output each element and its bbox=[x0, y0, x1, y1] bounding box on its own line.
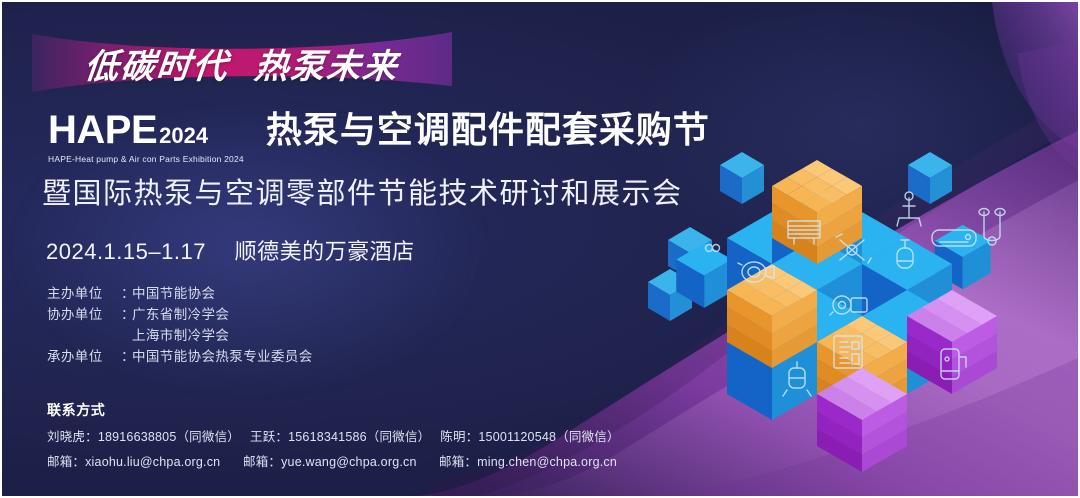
contact-email-row: 邮箱：xiaohu.liu@chpa.org.cn 邮箱：yue.wang@ch… bbox=[47, 451, 635, 470]
email-label: 邮箱： bbox=[243, 455, 281, 469]
contact-phone-row: 刘晓虎：18916638805（同微信） 王跃：15618341586（同微信）… bbox=[47, 426, 630, 445]
title-row: HAPE 2024 HAPE-Heat pump & Air con Parts… bbox=[48, 110, 710, 164]
email-address: xiaohu.liu@chpa.org.cn bbox=[85, 455, 220, 469]
hape-logo: HAPE 2024 HAPE-Heat pump & Air con Parts… bbox=[48, 110, 256, 164]
organizer-list: 主办单位 ： 中国节能协会 协办单位 ： 广东省制冷学会 上海市制冷学会 承办单… bbox=[47, 283, 313, 367]
slogan-text: 低碳时代 热泵未来 bbox=[29, 34, 455, 92]
contact-person-phone: 刘晓虎：18916638805（同微信） bbox=[47, 426, 240, 445]
email-address: ming.chen@chpa.org.cn bbox=[477, 455, 617, 469]
contact-heading: 联系方式 bbox=[47, 400, 105, 420]
email-label: 邮箱： bbox=[439, 455, 477, 469]
organizer-label bbox=[47, 325, 121, 346]
isometric-cube-graphic bbox=[662, 120, 1062, 420]
contact-phone-number: 15001120548 bbox=[478, 430, 556, 444]
organizer-row: 主办单位 ： 中国节能协会 bbox=[47, 283, 313, 304]
contact-colon: ： bbox=[466, 430, 479, 444]
organizer-value: 中国节能协会热泵专业委员会 bbox=[132, 346, 313, 367]
organizer-value: 中国节能协会 bbox=[132, 283, 215, 304]
logo-english-subtitle: HAPE-Heat pump & Air con Parts Exhibitio… bbox=[48, 154, 244, 164]
contact-person-phone: 陈明：15001120548（同微信） bbox=[440, 426, 619, 445]
contact-colon: ： bbox=[275, 430, 288, 444]
contact-name: 王跃 bbox=[250, 430, 275, 444]
organizer-label: 承办单位 bbox=[47, 346, 121, 367]
organizer-row: 上海市制冷学会 bbox=[47, 325, 313, 346]
organizer-colon: ： bbox=[121, 283, 132, 304]
contact-person-email: 邮箱：yue.wang@chpa.org.cn bbox=[243, 451, 439, 470]
contact-phone-number: 18916638805 bbox=[98, 430, 177, 444]
page-title: 热泵与空调配件配套采购节 bbox=[266, 112, 710, 148]
contact-name: 陈明 bbox=[440, 430, 465, 444]
organizer-colon: ： bbox=[121, 346, 132, 367]
contact-person-email: 邮箱：xiaohu.liu@chpa.org.cn bbox=[47, 451, 243, 470]
organizer-value: 广东省制冷学会 bbox=[132, 304, 229, 325]
organizer-colon bbox=[121, 325, 132, 346]
organizer-value: 上海市制冷学会 bbox=[132, 325, 229, 346]
contact-phone-number: 15618341586 bbox=[288, 430, 367, 444]
slogan-left: 低碳时代 bbox=[82, 39, 231, 88]
organizer-row: 协办单位 ： 广东省制冷学会 bbox=[47, 304, 313, 325]
organizer-row: 承办单位 ： 中国节能协会热泵专业委员会 bbox=[47, 346, 313, 367]
event-venue: 顺德美的万豪酒店 bbox=[235, 239, 415, 264]
contact-person-phone: 王跃：15618341586（同微信） bbox=[250, 426, 430, 445]
service-tool-icon bbox=[897, 192, 921, 226]
date-venue: 2024.1.15–1.17 顺德美的万豪酒店 bbox=[46, 234, 415, 266]
contact-wechat-note: （同微信） bbox=[176, 430, 240, 444]
contact-colon: ： bbox=[85, 430, 98, 444]
contact-wechat-note: （同微信） bbox=[367, 430, 431, 444]
organizer-label: 协办单位 bbox=[47, 304, 121, 325]
organizer-colon: ： bbox=[121, 304, 132, 325]
contact-person-email: 邮箱：ming.chen@chpa.org.cn bbox=[439, 451, 635, 470]
logo-wordmark: HAPE bbox=[48, 110, 157, 150]
contact-wechat-note: （同微信） bbox=[556, 430, 620, 444]
logo-year: 2024 bbox=[159, 125, 208, 147]
slogan-right: 热泵未来 bbox=[252, 39, 401, 88]
organizer-label: 主办单位 bbox=[47, 283, 121, 304]
event-date: 2024.1.15–1.17 bbox=[46, 239, 206, 264]
email-address: yue.wang@chpa.org.cn bbox=[281, 455, 417, 469]
page-subtitle: 暨国际热泵与空调零部件节能技术研讨和展示会 bbox=[42, 170, 683, 212]
promo-poster: 低碳时代 热泵未来 HAPE 2024 HAPE-Heat pump & Air… bbox=[0, 0, 1080, 498]
contact-name: 刘晓虎 bbox=[47, 430, 85, 444]
email-label: 邮箱： bbox=[47, 455, 85, 469]
